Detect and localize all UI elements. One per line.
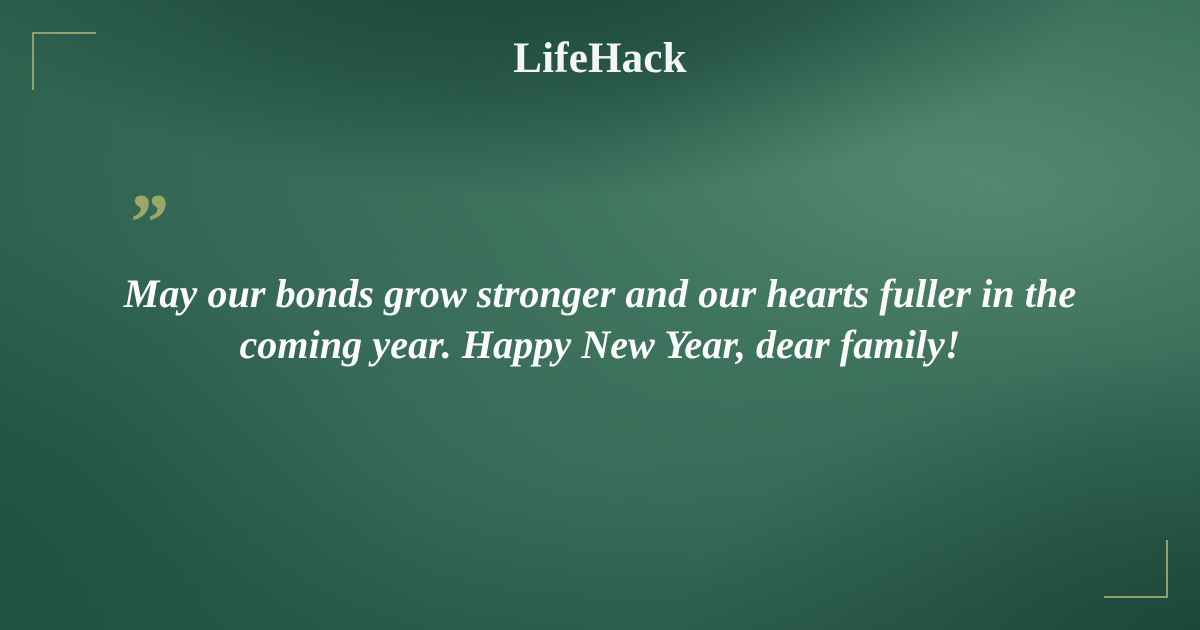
corner-bracket-top-left-horizontal bbox=[32, 32, 96, 34]
quote-card: LifeHack ” May our bonds grow stronger a… bbox=[0, 0, 1200, 630]
corner-bracket-bottom-right bbox=[1104, 540, 1168, 598]
corner-bracket-bottom-right-horizontal bbox=[1104, 596, 1168, 598]
corner-bracket-bottom-right-vertical bbox=[1166, 540, 1168, 598]
lifehack-logo: LifeHack bbox=[0, 36, 1200, 82]
quote-text: May our bonds grow stronger and our hear… bbox=[100, 268, 1100, 370]
quotation-mark-icon: ” bbox=[126, 182, 167, 264]
